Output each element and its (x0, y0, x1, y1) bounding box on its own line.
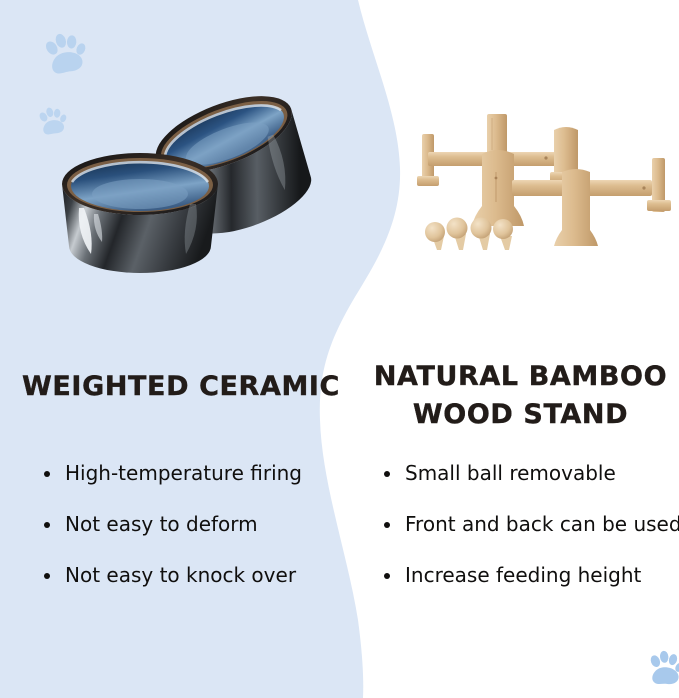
wooden-ball-pegs (425, 218, 513, 251)
left-panel-bullet-list: High-temperature firing Not easy to defo… (0, 463, 362, 585)
list-item: Not easy to knock over (44, 565, 362, 585)
list-item-label: Not easy to deform (65, 512, 258, 536)
bullet-dot-icon (44, 471, 50, 477)
list-item: Increase feeding height (384, 565, 679, 585)
right-panel-heading-line-1: NATURAL BAMBOO (374, 361, 667, 392)
bullet-dot-icon (384, 522, 390, 528)
bamboo-stand-product-image (404, 110, 679, 262)
list-item-label: High-temperature firing (65, 461, 302, 485)
list-item-label: Front and back can be used (405, 512, 679, 536)
left-panel-heading: WEIGHTED CERAMIC (0, 352, 362, 406)
bullet-dot-icon (384, 471, 390, 477)
bullet-dot-icon (384, 573, 390, 579)
weighted-ceramic-feature-panel: WEIGHTED CERAMIC High-temperature firing… (0, 352, 362, 585)
list-item: High-temperature firing (44, 463, 362, 483)
right-panel-bullet-list: Small ball removable Front and back can … (362, 463, 679, 585)
list-item: Small ball removable (384, 463, 679, 483)
bullet-dot-icon (44, 522, 50, 528)
ceramic-bowls-product-image (40, 58, 360, 293)
list-item-label: Increase feeding height (405, 563, 641, 587)
list-item-label: Small ball removable (405, 461, 616, 485)
infographic-page: WEIGHTED CERAMIC High-temperature firing… (0, 0, 679, 698)
list-item: Front and back can be used (384, 514, 679, 534)
bullet-dot-icon (44, 573, 50, 579)
paw-print-icon-bottom-right (645, 648, 679, 688)
right-panel-heading-line-2: WOOD STAND (413, 399, 628, 430)
right-panel-heading: NATURAL BAMBOO WOOD STAND (362, 352, 679, 435)
list-item-label: Not easy to knock over (65, 563, 296, 587)
list-item: Not easy to deform (44, 514, 362, 534)
natural-bamboo-wood-stand-feature-panel: NATURAL BAMBOO WOOD STAND Small ball rem… (362, 352, 679, 585)
